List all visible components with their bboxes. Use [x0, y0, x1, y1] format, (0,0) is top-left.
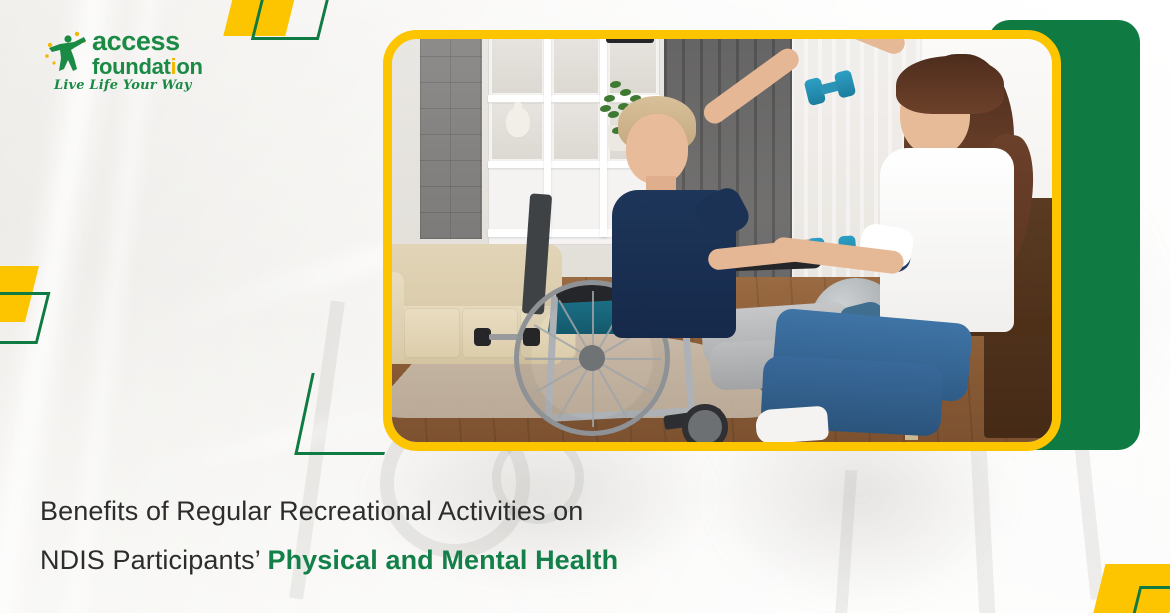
brand-name-line2: foundation: [92, 55, 203, 78]
brand-name-line1: access: [92, 28, 203, 55]
brand-logo[interactable]: access foundation Live Life Your Way: [44, 28, 234, 90]
participant-head: [626, 114, 688, 184]
headline-line-1: Benefits of Regular Recreational Activit…: [40, 487, 800, 536]
stone-wall-panel: [420, 39, 482, 239]
person-raising-arms-icon: [44, 30, 90, 74]
shelf-cell: [492, 39, 542, 93]
therapist-sneaker: [755, 406, 829, 442]
therapist-woman: [808, 39, 1052, 442]
blog-banner: access foundation Live Life Your Way Ben…: [0, 0, 1170, 613]
brand-tagline: Live Life Your Way: [54, 78, 192, 93]
decorative-vase: [506, 107, 530, 137]
shelf-books: [606, 39, 654, 43]
hero-image: [392, 39, 1052, 442]
sofa-cushion: [404, 308, 460, 358]
headline-plain-text: NDIS Participants’: [40, 545, 267, 575]
therapist-hair-top: [896, 56, 1004, 114]
page-title: Benefits of Regular Recreational Activit…: [40, 487, 800, 585]
headline-accent-text: Physical and Mental Health: [267, 545, 618, 575]
headline-line-2: NDIS Participants’ Physical and Mental H…: [40, 536, 800, 585]
hero-image-frame: [383, 30, 1061, 451]
sofa-arm: [392, 272, 404, 364]
brand-wordmark: access foundation: [92, 28, 203, 78]
